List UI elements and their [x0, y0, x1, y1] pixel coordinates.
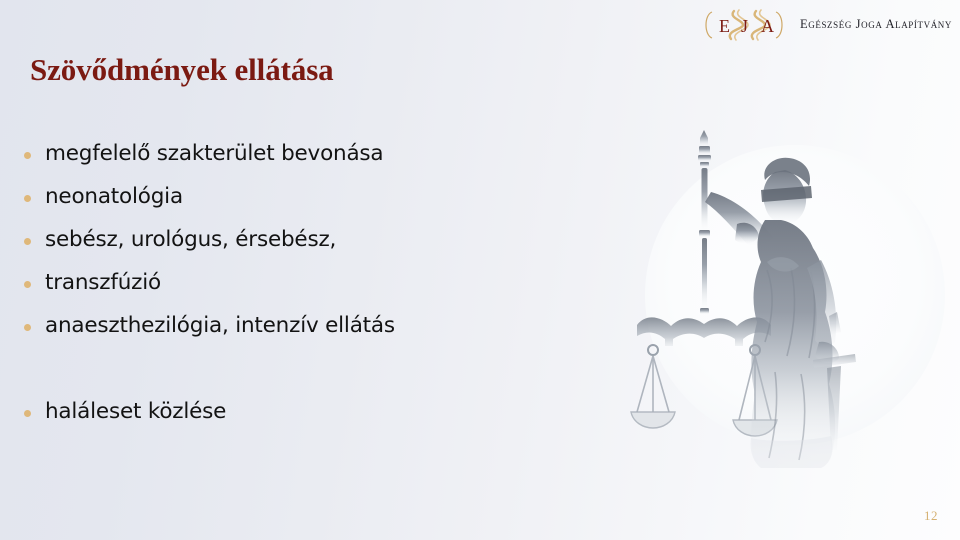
- bullet-dot-icon: [24, 410, 31, 417]
- bullet-list: megfelelő szakterület bevonása neonatoló…: [24, 140, 584, 441]
- emblem-letter-j: J: [741, 16, 748, 36]
- list-spacer: [24, 355, 584, 398]
- list-item: haláleset közlése: [24, 398, 584, 441]
- bullet-dot-icon: [24, 152, 31, 159]
- logo-wordmark: Egészség Joga Alapítvány: [800, 17, 952, 34]
- list-item: neonatológia: [24, 183, 584, 226]
- list-item: sebész, urológus, érsebész,: [24, 226, 584, 269]
- slide-canvas: E J A Egészség Joga Alapítvány Szövődmén…: [0, 0, 960, 540]
- emblem-letter-e: E: [719, 16, 730, 36]
- list-item-label: haláleset közlése: [45, 398, 226, 426]
- slide-title: Szövődmények ellátása: [30, 52, 334, 88]
- bullet-dot-icon: [24, 238, 31, 245]
- bullet-dot-icon: [24, 324, 31, 331]
- list-item: megfelelő szakterület bevonása: [24, 140, 584, 183]
- lady-justice-illustration: [615, 120, 960, 470]
- list-item-label: neonatológia: [45, 183, 183, 211]
- list-item: transzfúzió: [24, 269, 584, 312]
- list-item-label: transzfúzió: [45, 269, 161, 297]
- bullet-dot-icon: [24, 281, 31, 288]
- lady-justice-icon: [615, 120, 960, 470]
- list-item-label: sebész, urológus, érsebész,: [45, 226, 336, 254]
- list-item: anaeszthezilógia, intenzív ellátás: [24, 312, 584, 355]
- page-number: 12: [924, 508, 938, 524]
- emblem-letter-a: A: [761, 16, 774, 36]
- list-item-label: anaeszthezilógia, intenzív ellátás: [45, 312, 395, 340]
- bullet-dot-icon: [24, 195, 31, 202]
- list-item-label: megfelelő szakterület bevonása: [45, 140, 383, 168]
- brand-logo: E J A Egészség Joga Alapítvány: [698, 6, 952, 44]
- eja-emblem-icon: E J A: [698, 7, 790, 43]
